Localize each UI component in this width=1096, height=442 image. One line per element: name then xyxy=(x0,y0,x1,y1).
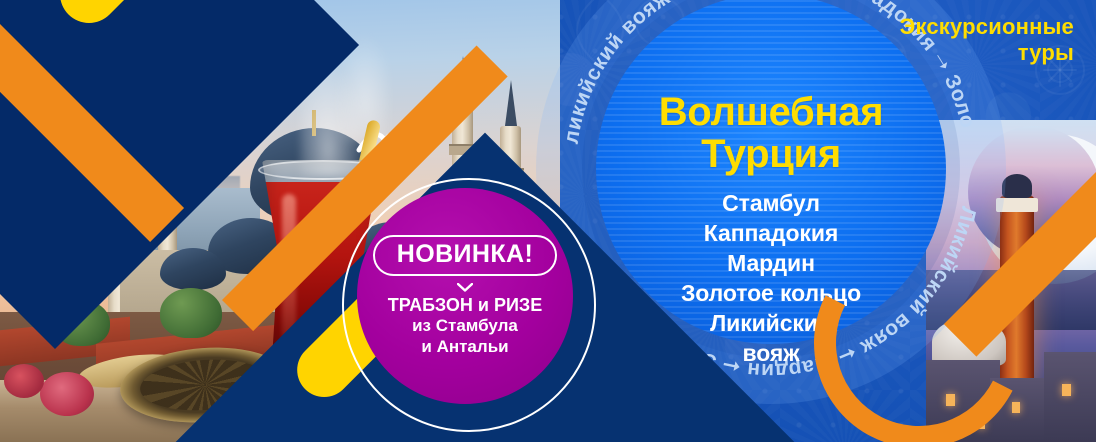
excursion-tours-label: Экскурсионные туры xyxy=(864,14,1074,66)
page-title: Волшебная Турция xyxy=(596,92,946,175)
lit-window-3 xyxy=(1062,384,1071,396)
badge-pill-label: НОВИНКА! xyxy=(373,235,557,276)
promo-banner: ликийский вояж ➝ Стамбул ➝ Каппадокия ➝ … xyxy=(0,0,1096,442)
tours-label-line-2: туры xyxy=(864,40,1074,66)
dried-rose-1 xyxy=(40,372,94,416)
dried-rose-2 xyxy=(4,364,44,398)
badge-line-1: ТРАБЗОН и РИЗЕ xyxy=(388,295,542,316)
badge-line-2: из Стамбула xyxy=(412,316,518,336)
new-offer-badge[interactable]: НОВИНКА! ТРАБЗОН и РИЗЕ из Стамбула и Ан… xyxy=(357,188,573,404)
title-line-1: Волшебная xyxy=(596,92,946,134)
minaret-cap xyxy=(1002,174,1032,198)
stone-building-3 xyxy=(1044,352,1096,442)
title-line-2: Турция xyxy=(596,134,946,176)
lit-window-2 xyxy=(1012,402,1020,413)
destination-item-istanbul: Стамбул xyxy=(596,189,946,217)
badge-line-3: и Антальи xyxy=(421,337,508,357)
tree-2 xyxy=(160,288,222,338)
chevron-down-icon xyxy=(457,283,473,292)
tours-label-line-1: Экскурсионные xyxy=(864,14,1074,40)
